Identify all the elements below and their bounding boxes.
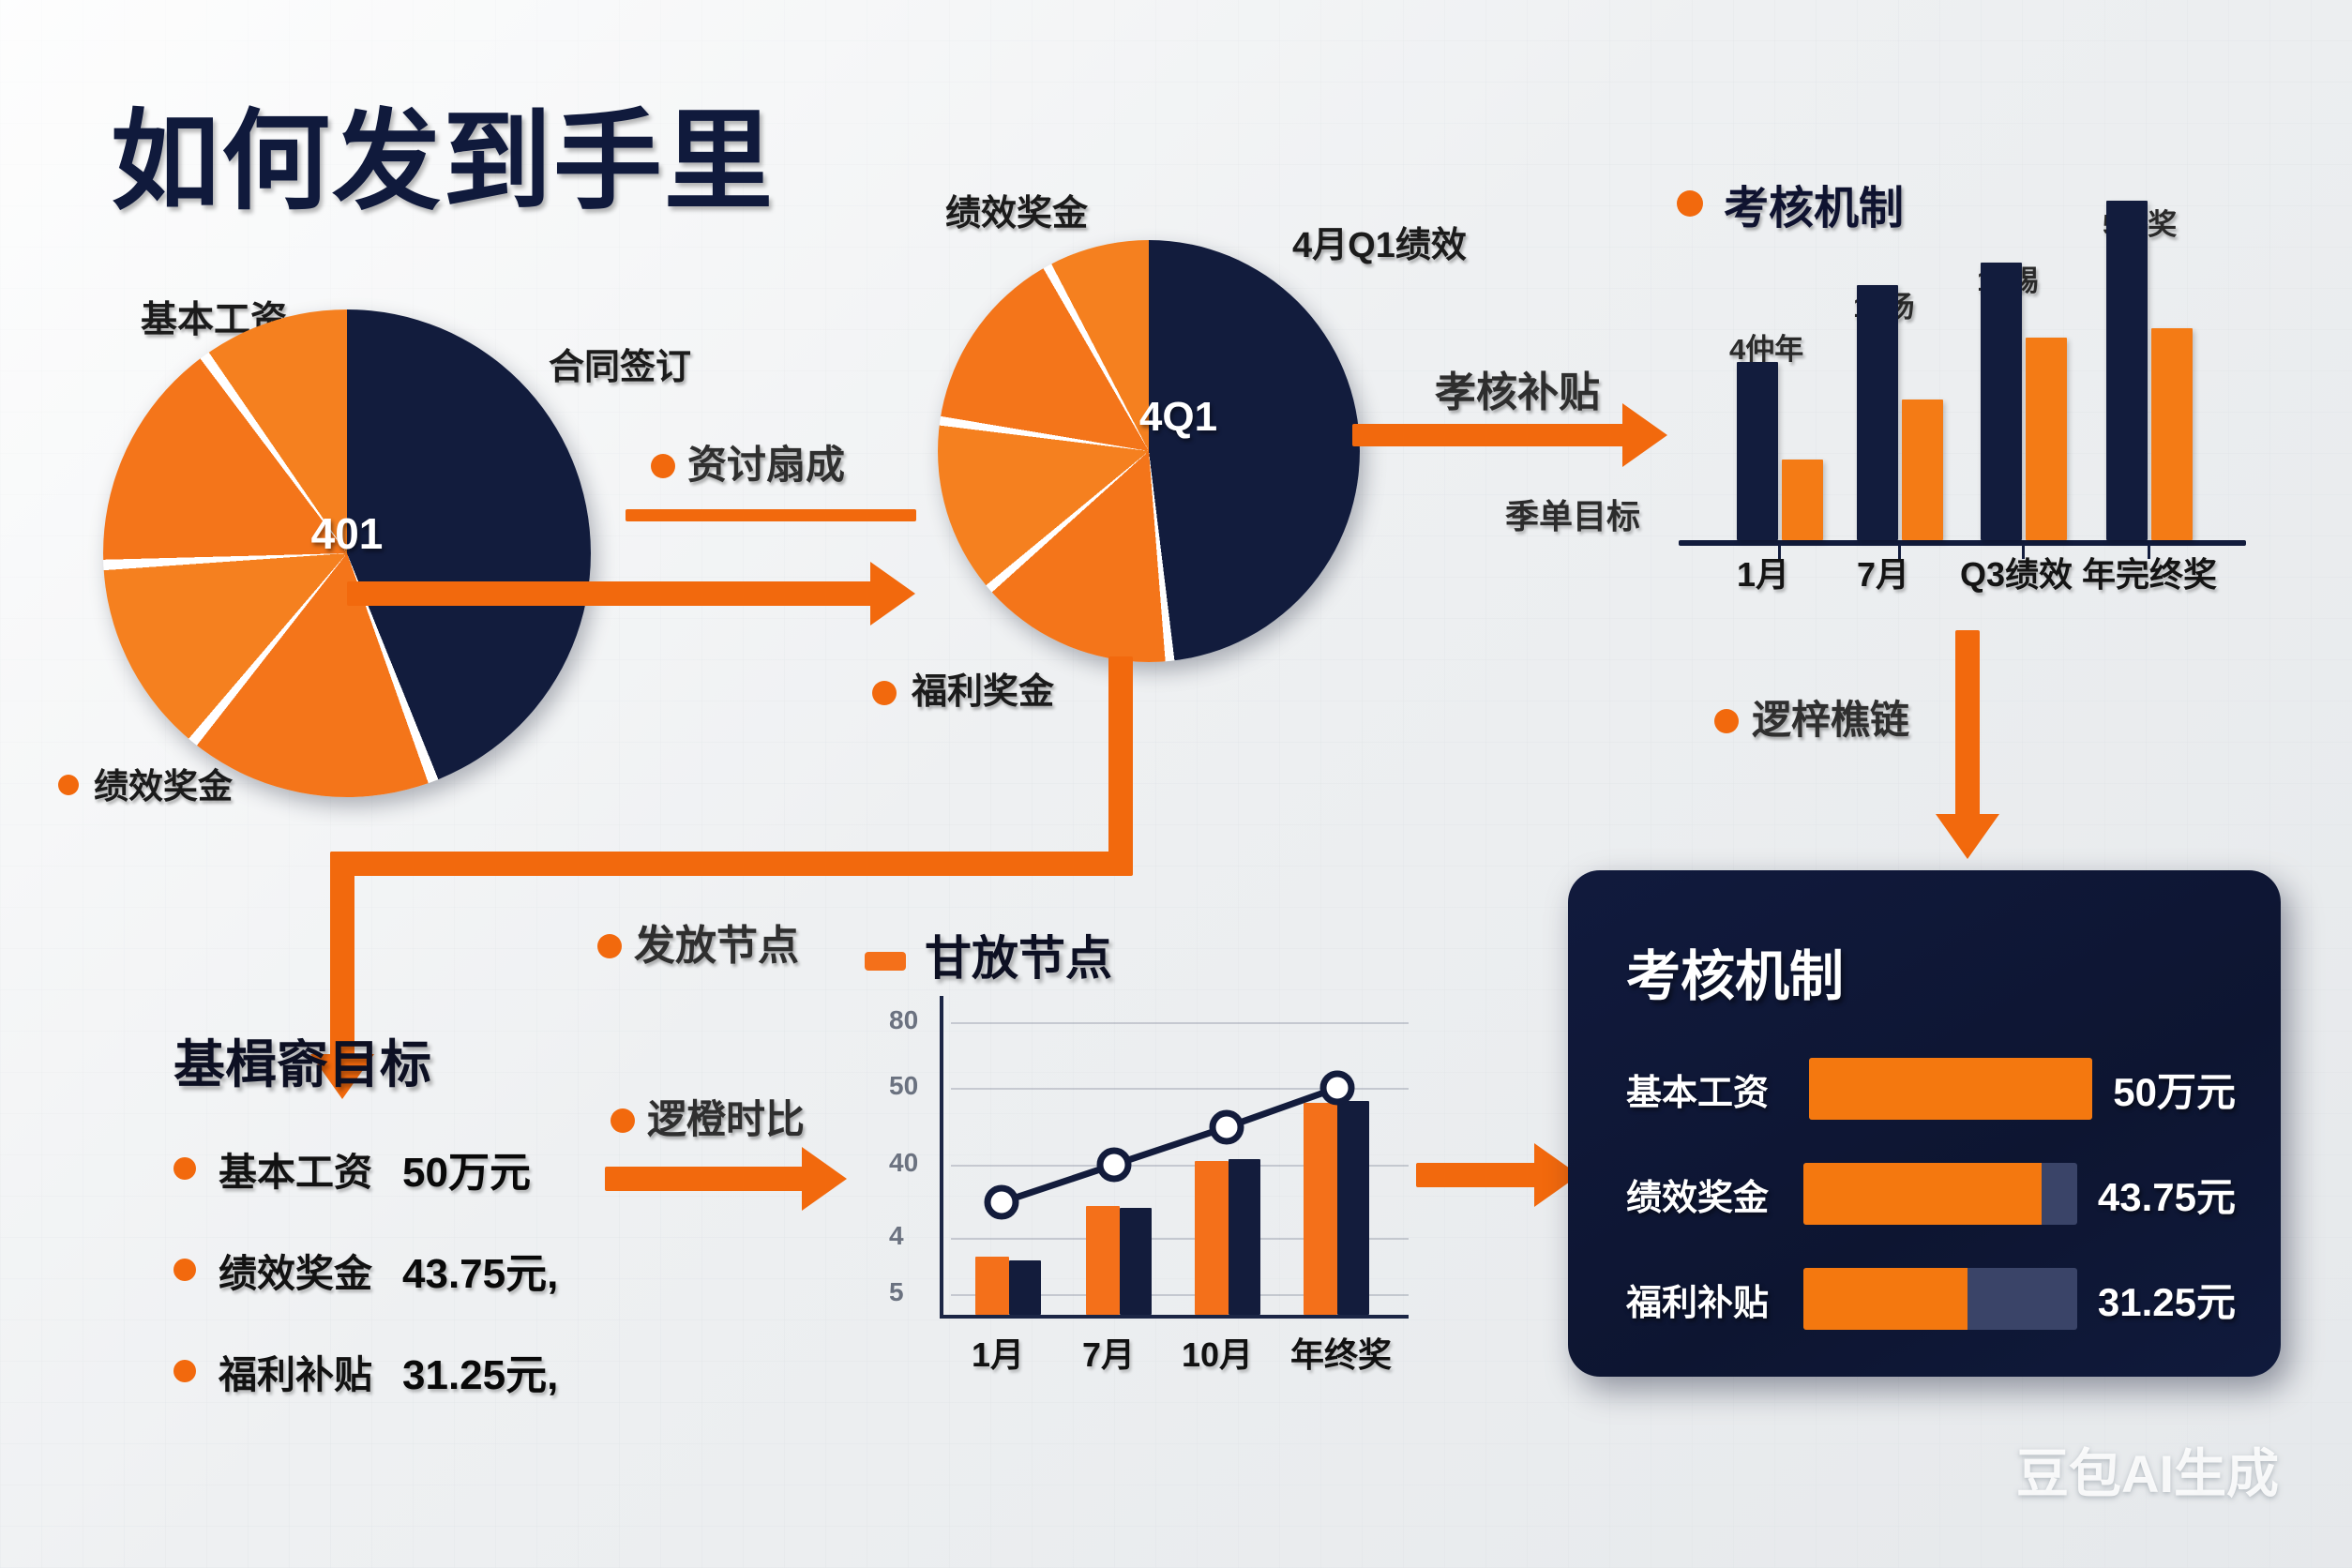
card-row-value: 50万元 — [2113, 1061, 2236, 1118]
assessment-card[interactable]: 考核机制 基本工资 50万元 绩效奖金 43.75元 福利补贴 31.25元 — [1568, 870, 2281, 1377]
pie-right-label-right: 4月Q1绩效 — [1292, 216, 1467, 267]
list-bullet-icon — [173, 1157, 196, 1180]
flow6-bullet — [611, 1108, 635, 1133]
card-row-label: 福利补贴 — [1626, 1274, 1803, 1325]
pie-right-label-bottom: 福利奖金 — [912, 662, 1054, 714]
arrow-mid-to-bar-head — [1622, 403, 1667, 467]
pie-right-slices — [938, 240, 1360, 662]
bar-xlabel-1: 7月 — [1857, 548, 1909, 596]
page-title: 如何发到手里 — [111, 73, 775, 231]
bar-dark-1 — [1857, 285, 1898, 540]
pie-chart-left[interactable]: 401 — [103, 309, 591, 797]
card-progress-track — [1803, 1268, 2077, 1330]
bar-dark-3 — [2106, 201, 2148, 540]
arrow-bar-to-card-shaft — [1955, 630, 1980, 818]
list-item-label: 福利补贴 — [219, 1343, 372, 1399]
annotation-flow5: 发放节点 — [634, 912, 799, 972]
list-item[interactable]: 绩效奖金 43.75元, — [173, 1240, 699, 1300]
arrow-list-to-combo-shaft — [605, 1167, 804, 1191]
watermark: 豆包AI生成 — [2016, 1432, 2279, 1508]
bar-orange-0 — [1782, 460, 1823, 540]
flow5-bullet — [597, 934, 622, 958]
flow1-connector-line — [626, 509, 916, 521]
annotation-flow3: 季单目标 — [1505, 490, 1640, 538]
infographic-canvas: 如何发到手里 基本工资 绩效奖金 401 合同签订 资讨扇成 绩效奖金 4月Q1… — [0, 0, 2352, 1568]
list-item-label: 绩效奖金 — [219, 1242, 372, 1298]
targets-list-panel: 基楫窬目标 基本工资 50万元 绩效奖金 43.75元, 福利补贴 31.25元… — [173, 1022, 699, 1401]
card-row-label: 绩效奖金 — [1626, 1168, 1803, 1220]
list-item[interactable]: 福利补贴 31.25元, — [173, 1341, 699, 1401]
assessment-bar-chart[interactable]: 4仲年 1月 10汤 7月 12赐 Q3绩效 5终奖 年完终奖 — [1679, 216, 2260, 591]
release-node-chart[interactable]: 甘放节点 80 50 40 4 5 1月 7月 10月 年终 — [872, 957, 1425, 1407]
bar-xlabel-0: 1月 — [1737, 548, 1789, 596]
arrow-left-to-mid-shaft — [347, 581, 872, 606]
card-progress-track — [1803, 1163, 2077, 1225]
bar-xlabel-2: Q3绩效 — [1960, 548, 2073, 596]
combo-xlabel-2: 10月 — [1182, 1328, 1253, 1377]
list-item-value: 43.75元, — [402, 1240, 558, 1300]
pie-right-bottom-bullet — [872, 681, 897, 705]
combo-xlabel-1: 7月 — [1082, 1328, 1135, 1377]
card-progress-fill — [1809, 1058, 2092, 1120]
arrow-list-to-combo-head — [802, 1147, 847, 1211]
pie-chart-right[interactable]: 4Q1 — [938, 240, 1360, 662]
arrow-bar-to-card-head — [1936, 814, 1999, 859]
arrow-mid-to-bar-shaft — [1352, 424, 1624, 446]
list-item-value: 31.25元, — [402, 1341, 558, 1401]
card-row-value: 31.25元 — [2098, 1271, 2236, 1328]
card-progress-track — [1809, 1058, 2092, 1120]
card-progress-fill — [1803, 1163, 2042, 1225]
card-row[interactable]: 绩效奖金 43.75元 — [1626, 1163, 2236, 1225]
arrow-left-to-mid-head — [870, 562, 915, 626]
annotation-flow2: 孝核补贴 — [1435, 358, 1600, 418]
combo-xlabel-3: 年终奖 — [1290, 1328, 1392, 1377]
arrow-elbow-top — [330, 852, 1133, 876]
bar-title-bullet — [1677, 190, 1703, 217]
list-item-value: 50万元 — [402, 1138, 531, 1199]
bar-dark-0 — [1737, 362, 1778, 540]
flow4-bullet — [1714, 709, 1739, 733]
list-panel-heading: 基楫窬目标 — [173, 1022, 699, 1097]
pie-right-label-top: 绩效奖金 — [945, 184, 1088, 235]
pie-left-center-label: 401 — [311, 508, 384, 559]
pie-left-bottom-bullet — [58, 775, 79, 795]
annotation-flow1: 资讨扇成 — [687, 433, 845, 490]
bar-dark-2 — [1981, 263, 2022, 540]
flow1-bullet — [651, 454, 675, 478]
list-bullet-icon — [173, 1360, 196, 1382]
bar-orange-3 — [2151, 328, 2193, 540]
list-item-label: 基本工资 — [219, 1140, 372, 1197]
arrow-combo-to-card-shaft — [1416, 1163, 1536, 1187]
bar-xlabel-3: 年完终奖 — [2082, 548, 2217, 596]
bar-chart-axis — [1679, 540, 2246, 546]
pie-left-label-bottom: 绩效奖金 — [94, 758, 233, 808]
annotation-flow6: 逻橙时比 — [647, 1088, 805, 1145]
card-row[interactable]: 福利补贴 31.25元 — [1626, 1268, 2236, 1330]
card-heading: 考核机制 — [1626, 932, 1844, 1011]
bar-orange-2 — [2026, 338, 2067, 540]
card-row-label: 基本工资 — [1626, 1063, 1809, 1115]
card-row[interactable]: 基本工资 50万元 — [1626, 1058, 2236, 1120]
pie-right-center-label: 4Q1 — [1139, 394, 1217, 441]
annotation-contract: 合同签订 — [549, 338, 691, 389]
card-progress-fill — [1803, 1268, 1968, 1330]
combo-xlabel-0: 1月 — [972, 1328, 1024, 1377]
arrow-elbow-right-riser — [1108, 656, 1133, 868]
list-bullet-icon — [173, 1259, 196, 1281]
annotation-flow4: 逻梓樵链 — [1752, 688, 1909, 746]
card-row-value: 43.75元 — [2098, 1166, 2236, 1223]
bar-orange-1 — [1902, 400, 1943, 540]
